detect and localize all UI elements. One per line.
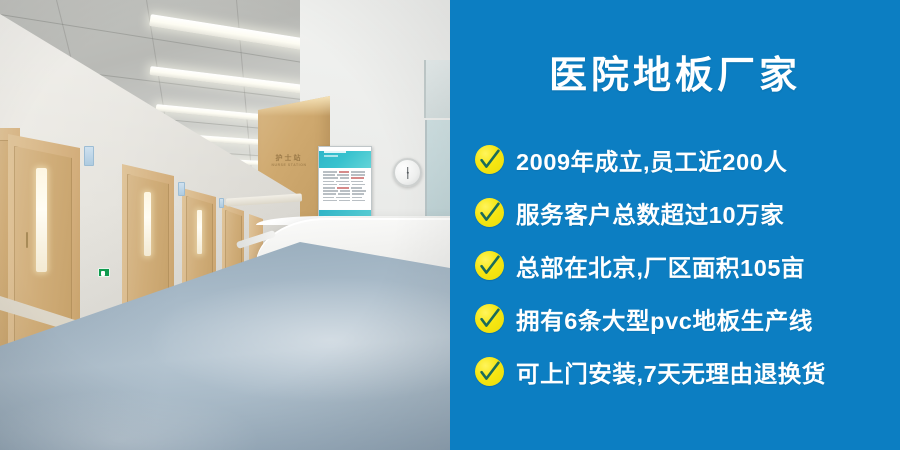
board-text-row (323, 177, 367, 179)
board-text-row (323, 174, 367, 176)
board-text-row (323, 171, 367, 173)
board-header-line (324, 155, 338, 157)
check-circle-icon (475, 251, 504, 280)
page-title: 医院地板厂家 (450, 56, 900, 98)
door-vision-panel (144, 192, 151, 256)
board-header-line (324, 151, 346, 153)
hospital-corridor-photo: 护士站 NURSE STATION (0, 0, 450, 450)
door-vision-panel (197, 210, 202, 254)
list-item: 可上门安装,7天无理由退换货 (475, 345, 890, 398)
nurse-station-sign-main: 护士站 (276, 155, 303, 164)
emergency-exit-sign-icon (98, 268, 110, 277)
board-text-row (323, 190, 367, 192)
check-circle-icon (475, 357, 504, 386)
nurse-station-sign-sub: NURSE STATION (272, 163, 307, 167)
list-item: 拥有6条大型pvc地板生产线 (475, 292, 890, 345)
list-item: 服务客户总数超过10万家 (475, 186, 890, 239)
check-circle-icon (475, 198, 504, 227)
list-item: 2009年成立,员工近200人 (475, 133, 890, 186)
board-text-row (323, 187, 367, 189)
board-text-row (323, 181, 367, 183)
promo-banner: 护士站 NURSE STATION (0, 0, 900, 450)
room-number-plate (219, 198, 224, 208)
board-text-row (323, 184, 367, 186)
room-number-plate (178, 182, 185, 196)
list-item-label: 总部在北京,厂区面积105亩 (516, 249, 805, 283)
list-item-label: 可上门安装,7天无理由退换货 (516, 355, 826, 389)
list-item-label: 拥有6条大型pvc地板生产线 (516, 302, 813, 336)
corridor-window-upper (424, 60, 450, 118)
room-number-plate (84, 146, 94, 166)
door-handle (26, 232, 28, 248)
list-item: 总部在北京,厂区面积105亩 (475, 239, 890, 292)
check-circle-icon (475, 304, 504, 333)
check-circle-icon (475, 145, 504, 174)
wall-clock-icon (393, 158, 422, 187)
door-vision-panel (36, 168, 47, 272)
information-board-body (319, 168, 371, 206)
board-text-row (323, 193, 367, 195)
nurse-station-sign: 护士站 NURSE STATION (268, 152, 310, 170)
list-item-label: 2009年成立,员工近200人 (516, 143, 788, 177)
clock-center-dot (406, 171, 408, 173)
information-board (318, 146, 372, 218)
information-board-header (319, 151, 371, 168)
board-text-row (323, 200, 367, 202)
list-item-label: 服务客户总数超过10万家 (516, 196, 784, 230)
board-text-row (323, 197, 367, 199)
feature-list: 2009年成立,员工近200人 服务客户总数超过10万家 总部在北京,厂区面积1… (475, 133, 890, 398)
info-panel: 医院地板厂家 2009年成立,员工近200人 服务客户总数超过10万家 (450, 0, 900, 450)
